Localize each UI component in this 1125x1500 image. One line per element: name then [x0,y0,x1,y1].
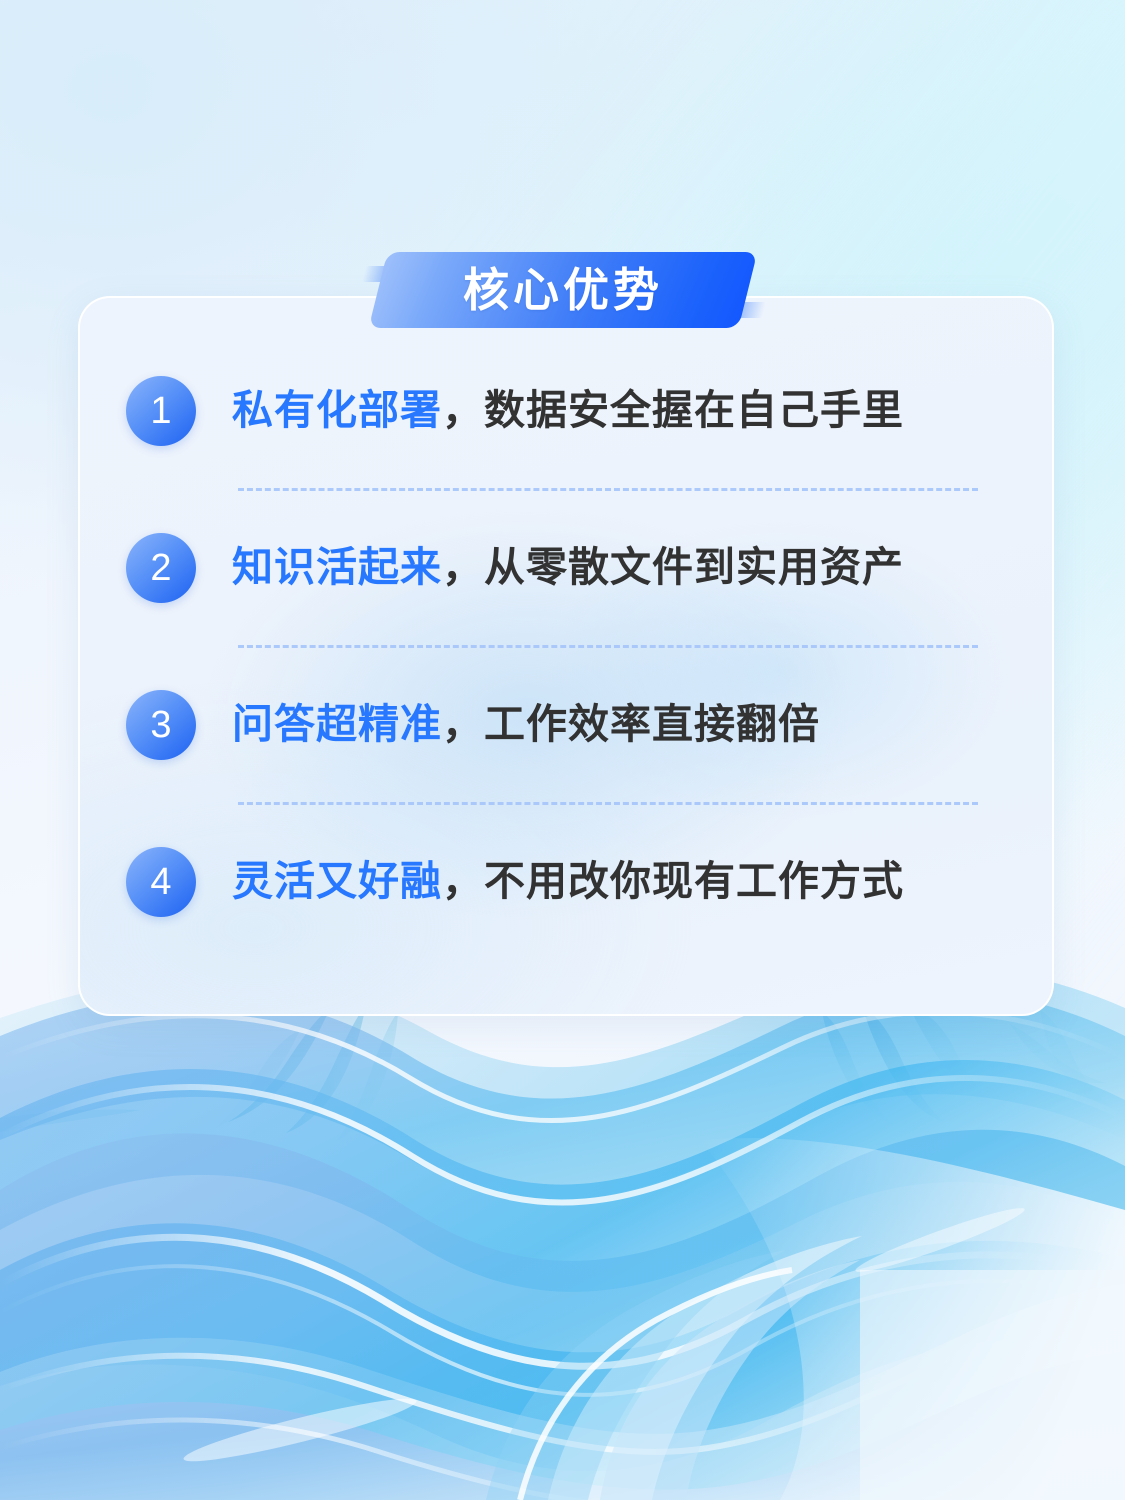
item-separator: ， [442,387,484,433]
row-spacer [126,805,992,843]
item-rest: 工作效率直接翻倍 [484,701,820,747]
row-divider [238,645,978,648]
item-rest: 从零散文件到实用资产 [484,544,904,590]
section-title-banner: 核心优势 [0,240,1125,340]
wave-graphic [0,940,1125,1500]
advantages-card: 1 私有化部署，数据安全握在自己手里 2 知识活起来，从零散文件到实用资产 3 [78,296,1054,1016]
item-highlight: 私有化部署 [232,387,442,433]
poster-root: 1 私有化部署，数据安全握在自己手里 2 知识活起来，从零散文件到实用资产 3 [0,0,1125,1500]
list-item[interactable]: 4 灵活又好融，不用改你现有工作方式 [126,843,992,921]
item-number-badge: 2 [126,533,196,603]
list-item[interactable]: 2 知识活起来，从零散文件到实用资产 [126,529,992,607]
item-highlight: 灵活又好融 [232,858,442,904]
list-item[interactable]: 3 问答超精准，工作效率直接翻倍 [126,686,992,764]
item-separator: ， [442,544,484,590]
item-rest: 数据安全握在自己手里 [484,387,904,433]
item-text: 知识活起来，从零散文件到实用资产 [232,545,904,590]
page-title: 核心优势 [378,252,748,328]
row-spacer [126,450,992,488]
item-separator: ， [442,701,484,747]
row-divider [238,802,978,805]
item-number-badge: 4 [126,847,196,917]
row-spacer [126,607,992,645]
row-spacer [126,491,992,529]
row-spacer [126,648,992,686]
item-separator: ， [442,858,484,904]
item-text: 问答超精准，工作效率直接翻倍 [232,702,820,747]
item-text: 灵活又好融，不用改你现有工作方式 [232,859,904,904]
row-divider [238,488,978,491]
item-number-badge: 3 [126,690,196,760]
row-spacer [126,764,992,802]
list-item[interactable]: 1 私有化部署，数据安全握在自己手里 [126,372,992,450]
item-number-badge: 1 [126,376,196,446]
item-text: 私有化部署，数据安全握在自己手里 [232,388,904,433]
advantages-list: 1 私有化部署，数据安全握在自己手里 2 知识活起来，从零散文件到实用资产 3 [80,298,1052,1014]
item-highlight: 知识活起来 [232,544,442,590]
item-rest: 不用改你现有工作方式 [484,858,904,904]
item-highlight: 问答超精准 [232,701,442,747]
